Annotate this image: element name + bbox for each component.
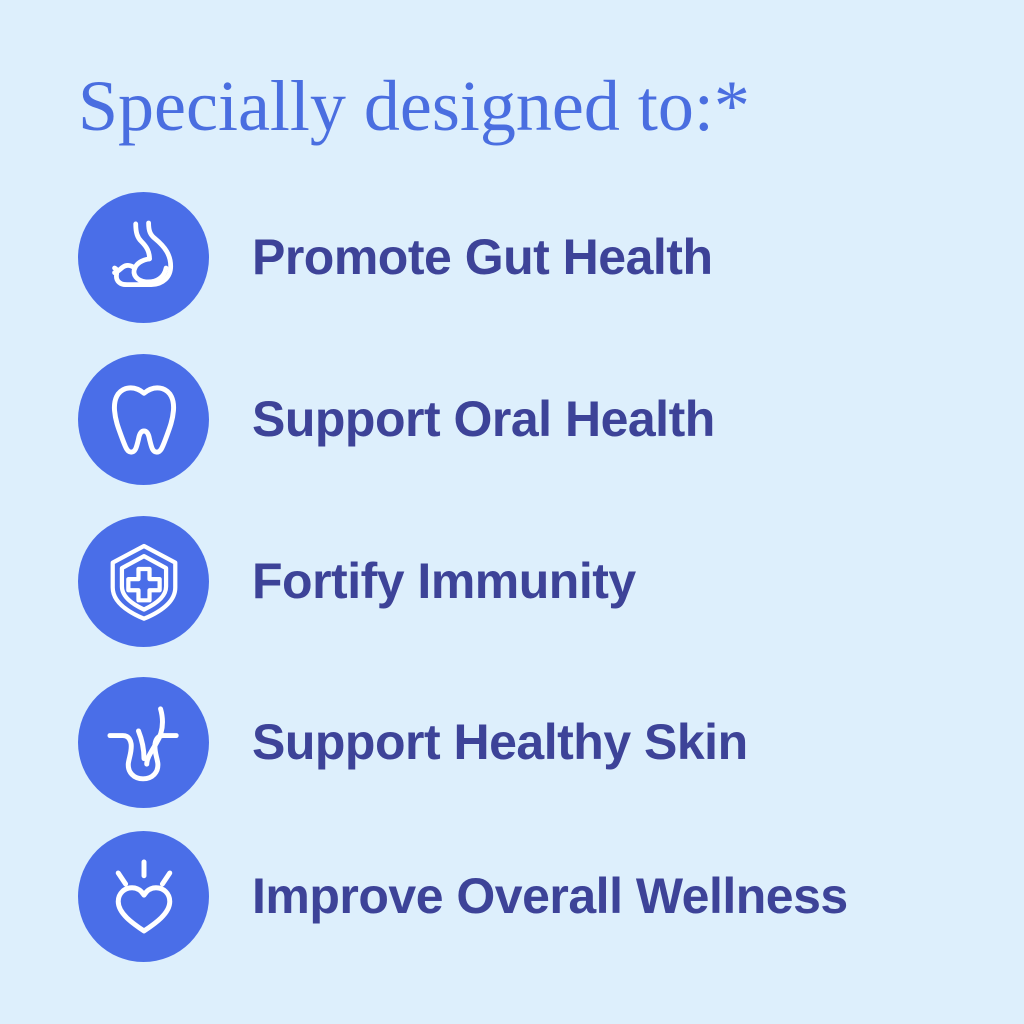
shield-plus-icon-badge	[78, 516, 209, 647]
list-item-label: Support Oral Health	[252, 391, 715, 447]
list-item: Support Oral Health	[78, 353, 978, 485]
tooth-icon	[98, 373, 190, 465]
shining-heart-icon	[98, 850, 190, 942]
list-item-label: Fortify Immunity	[252, 553, 636, 609]
benefit-list: Promote Gut Health Support Oral Health	[0, 0, 1024, 1024]
list-item: Support Healthy Skin	[78, 676, 978, 808]
list-item: Fortify Immunity	[78, 515, 978, 647]
list-item: Promote Gut Health	[78, 191, 978, 323]
list-item-label: Improve Overall Wellness	[252, 868, 848, 924]
tooth-icon-badge	[78, 354, 209, 485]
stomach-icon-badge	[78, 192, 209, 323]
shining-heart-icon-badge	[78, 831, 209, 962]
stomach-icon	[98, 211, 190, 303]
hair-follicle-icon-badge	[78, 677, 209, 808]
list-item: Improve Overall Wellness	[78, 830, 978, 962]
hair-follicle-icon	[98, 696, 190, 788]
list-item-label: Promote Gut Health	[252, 229, 712, 285]
list-item-label: Support Healthy Skin	[252, 714, 748, 770]
shield-plus-icon	[98, 535, 190, 627]
promo-graphic: Specially designed to:* Promote Gut Heal…	[0, 0, 1024, 1024]
